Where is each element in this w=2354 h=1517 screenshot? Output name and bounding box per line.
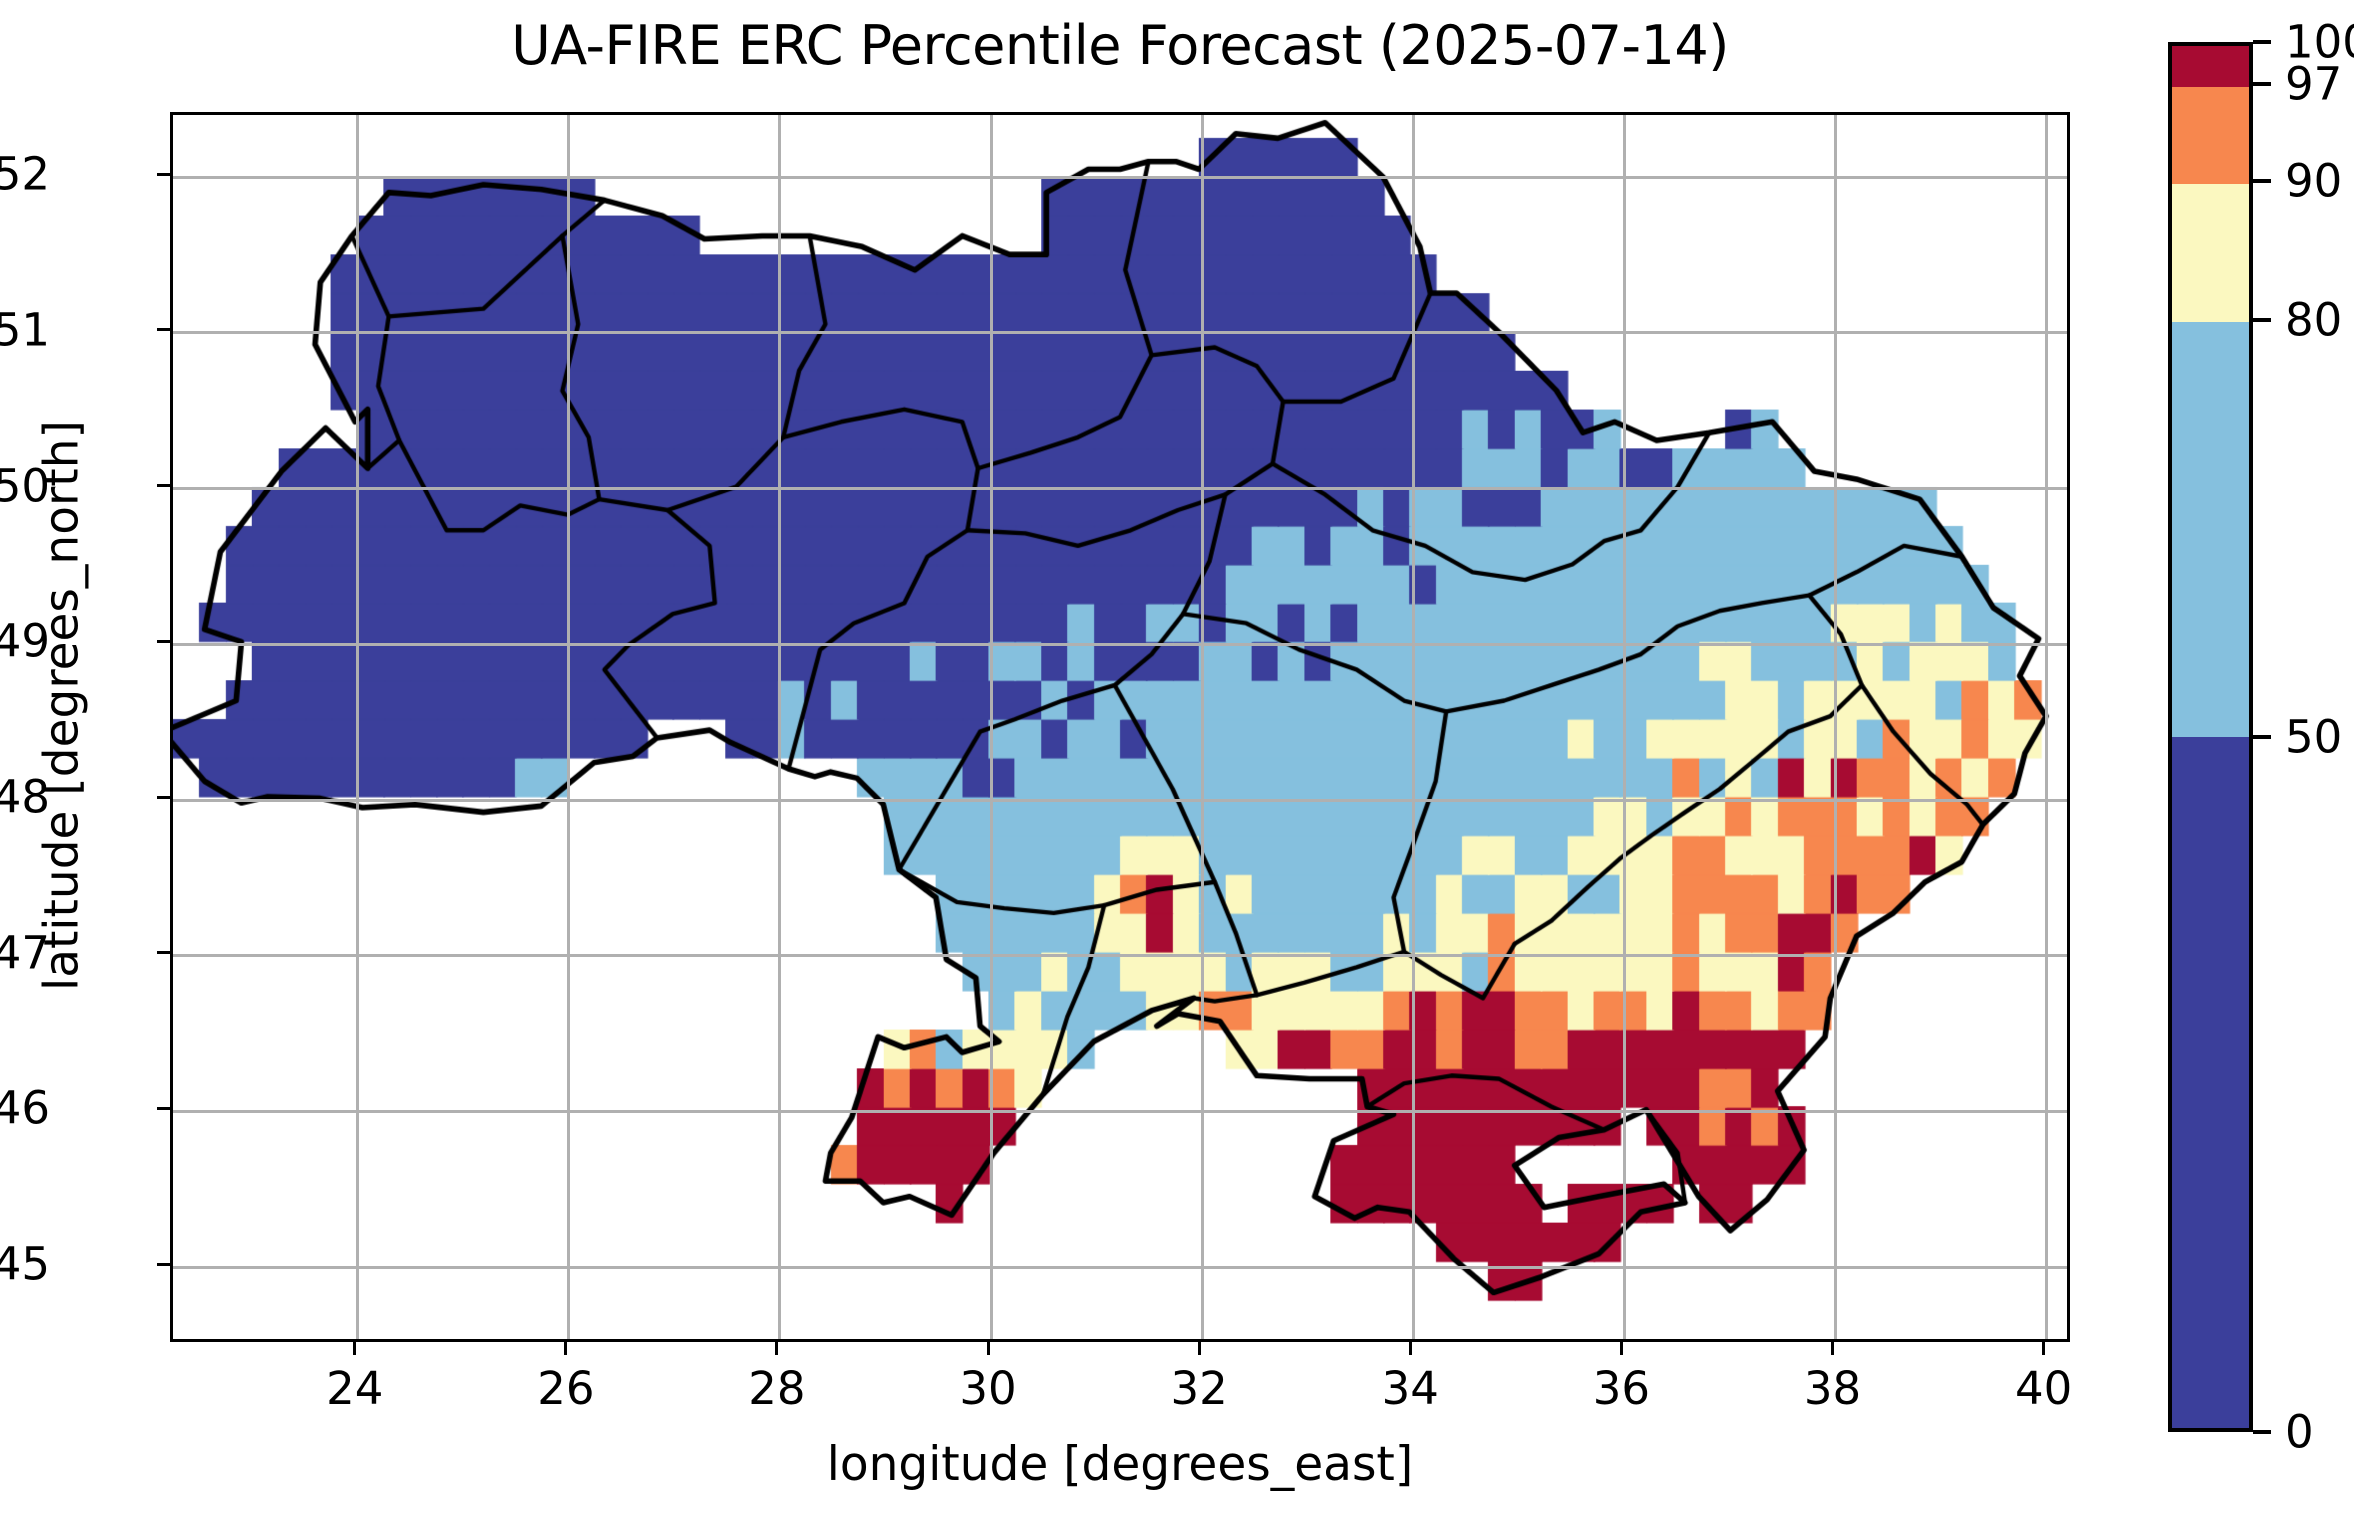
gridline-vertical <box>356 115 359 1339</box>
x-tick-label: 34 <box>1382 1362 1439 1415</box>
colorbar <box>2168 42 2253 1432</box>
x-tick-label: 36 <box>1593 1362 1650 1415</box>
x-tick-label: 24 <box>326 1362 383 1415</box>
colorbar-tick-mark <box>2253 82 2271 86</box>
gridline-horizontal <box>173 954 2067 957</box>
colorbar-segment <box>2172 184 2249 322</box>
gridline-vertical <box>1834 115 1837 1339</box>
gridline-horizontal <box>173 1266 2067 1269</box>
map-axes <box>170 112 2070 1342</box>
gridline-horizontal <box>173 1110 2067 1113</box>
x-tick-mark <box>1831 1342 1834 1355</box>
colorbar-tick-mark <box>2253 1430 2271 1434</box>
x-tick-label: 38 <box>1804 1362 1861 1415</box>
colorbar-segment <box>2172 737 2249 1428</box>
gridline-vertical <box>778 115 781 1339</box>
x-tick-mark <box>987 1342 990 1355</box>
colorbar-tick-label: 100 <box>2285 16 2354 69</box>
x-tick-mark <box>1409 1342 1412 1355</box>
gridline-vertical <box>1412 115 1415 1339</box>
y-tick-mark <box>157 328 170 331</box>
gridline-vertical <box>990 115 993 1339</box>
colorbar-segment <box>2172 87 2249 184</box>
matplotlib-figure: UA-FIRE ERC Percentile Forecast (2025-07… <box>0 0 2354 1517</box>
colorbar-tick-mark <box>2253 40 2271 44</box>
y-tick-mark <box>157 1263 170 1266</box>
gridline-vertical <box>2045 115 2048 1339</box>
colorbar-segment <box>2172 322 2249 737</box>
x-tick-mark <box>1198 1342 1201 1355</box>
y-tick-mark <box>157 1107 170 1110</box>
gridline-horizontal <box>173 331 2067 334</box>
colorbar-tick-label: 0 <box>2285 1406 2314 1459</box>
colorbar-tick-label: 50 <box>2285 711 2342 764</box>
gridline-horizontal <box>173 643 2067 646</box>
gridline-horizontal <box>173 799 2067 802</box>
y-tick-mark <box>157 173 170 176</box>
gridline-vertical <box>1623 115 1626 1339</box>
x-tick-mark <box>353 1342 356 1355</box>
x-tick-label: 26 <box>537 1362 594 1415</box>
x-tick-label: 28 <box>748 1362 805 1415</box>
x-tick-mark <box>775 1342 778 1355</box>
colorbar-tick-label: 90 <box>2285 155 2342 208</box>
gridline-horizontal <box>173 487 2067 490</box>
colorbar-tick-label: 80 <box>2285 294 2342 347</box>
x-tick-label: 32 <box>1171 1362 1228 1415</box>
colorbar-tick-mark <box>2253 318 2271 322</box>
y-tick-mark <box>157 484 170 487</box>
colorbar-segment <box>2172 46 2249 87</box>
page-title: UA-FIRE ERC Percentile Forecast (2025-07… <box>170 14 2070 77</box>
gridline-vertical <box>1201 115 1204 1339</box>
y-axis-label: latitude [degrees_north] <box>35 91 90 1321</box>
colorbar-tick-mark <box>2253 735 2271 739</box>
y-tick-mark <box>157 640 170 643</box>
y-tick-mark <box>157 951 170 954</box>
colorbar-tick-mark <box>2253 179 2271 183</box>
x-tick-label: 30 <box>959 1362 1016 1415</box>
y-tick-mark <box>157 796 170 799</box>
gridline-horizontal <box>173 176 2067 179</box>
x-tick-mark <box>1620 1342 1623 1355</box>
x-tick-mark <box>564 1342 567 1355</box>
x-tick-label: 40 <box>2015 1362 2072 1415</box>
x-axis-label: longitude [degrees_east] <box>170 1437 2070 1492</box>
x-tick-mark <box>2042 1342 2045 1355</box>
gridline-vertical <box>567 115 570 1339</box>
grid-lines <box>173 115 2067 1339</box>
